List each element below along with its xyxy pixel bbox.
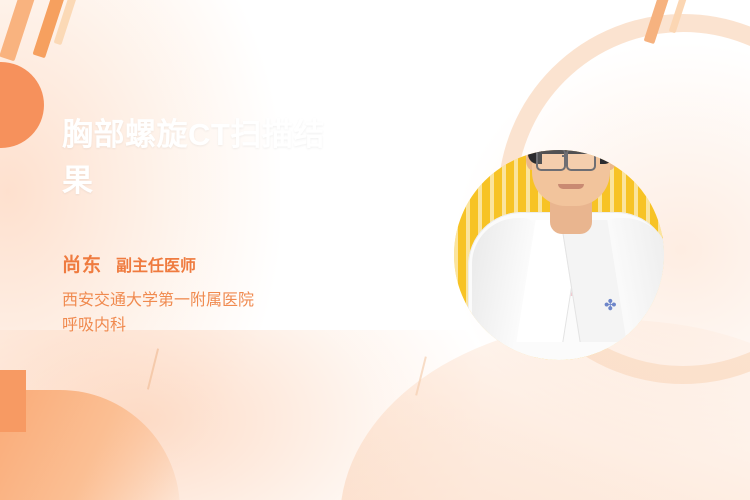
portrait-mouth xyxy=(558,184,584,189)
glasses-icon-right xyxy=(566,150,596,171)
page-title-line-1: 胸部螺旋CT扫描结 xyxy=(62,112,432,158)
affiliation-department: 呼吸内科 xyxy=(62,313,254,338)
glasses-bridge xyxy=(562,155,568,157)
page-title-line-2: 果 xyxy=(62,158,432,204)
doctor-identity: 尚东 副主任医师 xyxy=(62,250,196,277)
promo-card: ✤ 胸部螺旋CT扫描结 果 尚东 副主任医师 西安交通大学第一附属医院 呼吸内科 xyxy=(0,0,750,500)
page-title: 胸部螺旋CT扫描结 果 xyxy=(62,112,432,204)
decor-square-left xyxy=(0,370,26,432)
doctor-title: 副主任医师 xyxy=(116,252,196,276)
coat-badge-icon: ✤ xyxy=(604,298,620,314)
glasses-icon xyxy=(536,150,566,171)
doctor-affiliation: 西安交通大学第一附属医院 呼吸内科 xyxy=(62,288,254,338)
doctor-portrait: ✤ xyxy=(442,124,674,360)
portrait-figure: ✤ xyxy=(454,150,664,360)
portrait-clip: ✤ xyxy=(454,150,664,360)
doctor-name: 尚东 xyxy=(62,250,102,277)
affiliation-hospital: 西安交通大学第一附属医院 xyxy=(62,288,254,313)
